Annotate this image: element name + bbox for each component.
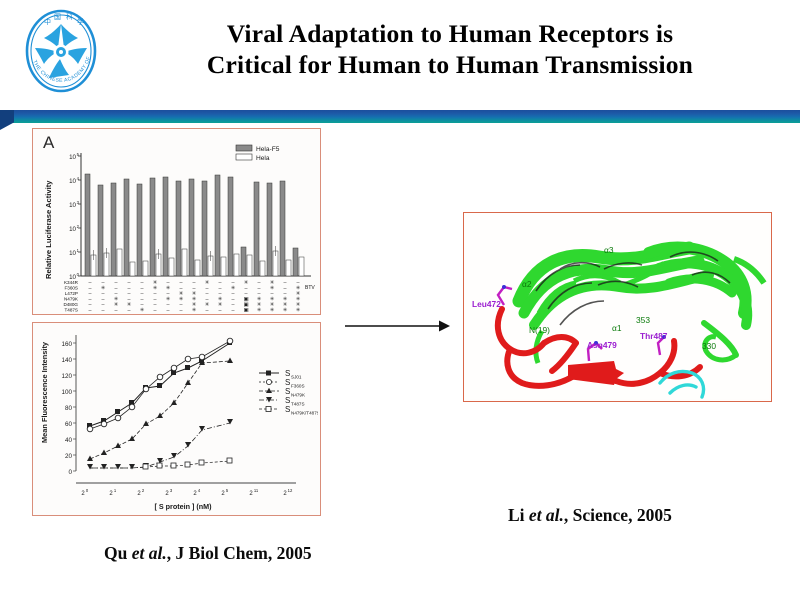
svg-text:▣: ▣ (243, 308, 248, 313)
panel-a-legend: Hela-F5 Hela (236, 145, 280, 162)
panel-a-svg: Relative Luciferase Activity 105 104 103… (33, 129, 318, 312)
citation-right: Li et al., Science, 2005 (508, 505, 672, 526)
legend-s-n479k-t487s: S (285, 405, 290, 414)
label-leu472: Leu472 (472, 299, 501, 309)
svg-text:10: 10 (69, 178, 76, 185)
svg-text:–: – (154, 308, 157, 313)
series-s-n479k-t487s-markers (143, 458, 232, 469)
svg-text:✳: ✳ (192, 308, 197, 313)
svg-text:科: 科 (66, 12, 73, 21)
svg-text:N479K: N479K (291, 393, 306, 398)
citation-left: Qu et al., J Biol Chem, 2005 (104, 543, 312, 564)
mutation-row-label-l472p: L472P (65, 291, 78, 296)
title-line-1: Viral Adaptation to Human Receptors is (227, 19, 674, 48)
legend-label-hela: Hela (256, 155, 270, 162)
panel-b-legend: S SJ01 S F360S S N479K S T487S S N479K/T… (259, 369, 318, 416)
panel-a-yticks: 105 104 103 102 101 100 (69, 152, 80, 281)
svg-text:2: 2 (193, 491, 197, 497)
svg-text:1: 1 (114, 488, 117, 493)
mutation-row-label-d480g: D480G (63, 302, 78, 307)
svg-text:N479K/T487S: N479K/T487S (291, 411, 318, 416)
svg-text:10: 10 (69, 154, 76, 161)
citation-right-rest: , Science, 2005 (564, 505, 672, 525)
label-353: 353 (636, 315, 650, 325)
svg-text:–: – (206, 308, 209, 313)
svg-text:–: – (89, 308, 92, 313)
svg-text:–: – (115, 308, 118, 313)
svg-text:20: 20 (65, 453, 73, 460)
svg-text:–: – (232, 308, 235, 313)
page-title: Viral Adaptation to Human Receptors is C… (130, 18, 770, 80)
label-thr487: Thr487 (640, 331, 668, 341)
svg-text:0: 0 (68, 469, 72, 476)
accent-divider-bar (0, 110, 800, 123)
svg-text:2: 2 (249, 491, 253, 497)
citation-left-author: Qu (104, 543, 127, 563)
svg-text:3: 3 (170, 488, 173, 493)
title-line-2: Critical for Human to Human Transmission (130, 49, 770, 80)
svg-text:10: 10 (69, 226, 76, 233)
label-alpha2: α2 (522, 279, 532, 289)
svg-text:60: 60 (65, 421, 73, 428)
legend-label-hela-f5: Hela-F5 (256, 146, 280, 153)
svg-text:2: 2 (137, 491, 141, 497)
svg-text:–: – (167, 308, 170, 313)
panel-b-xticks: 20 21 22 23 24 25 211 212 (81, 488, 293, 497)
panel-a-letter: A (43, 133, 54, 153)
svg-text:T487S: T487S (291, 402, 305, 407)
svg-text:–: – (102, 308, 105, 313)
panel-b-xlabel: [ S protein ] (nM) (154, 502, 212, 511)
panel-b-yticks: 160140120 1008060 40200 (61, 341, 72, 476)
svg-text:40: 40 (65, 437, 73, 444)
svg-text:10: 10 (69, 250, 76, 257)
svg-text:–: – (219, 308, 222, 313)
mutation-row-label-k344r: K344R (64, 280, 79, 285)
panel-a-mutation-matrix: K344R F360S L472P N479K D480G T487S ––––… (63, 280, 315, 312)
svg-text:中: 中 (44, 17, 51, 26)
legend-s-t487s: S (285, 396, 290, 405)
svg-text:SJ01: SJ01 (291, 375, 302, 380)
matrix-row-t487s: –––– ✳––– ✳––– ▣✳✳✳✳ (89, 308, 301, 313)
panel-c-svg: Leu472 Asn479 Thr487 α3 α2 α1 N(19) 353 … (464, 213, 769, 399)
mutation-row-label-t487s: T487S (64, 308, 78, 313)
legend-s-sj01: S (285, 369, 290, 378)
label-alpha1: α1 (612, 323, 622, 333)
svg-text:5: 5 (226, 488, 229, 493)
label-asn479: Asn479 (587, 340, 617, 350)
svg-text:160: 160 (61, 341, 72, 348)
svg-text:2: 2 (165, 491, 169, 497)
series-s-t487s-markers (87, 419, 233, 470)
series-s-n479k-markers (87, 358, 233, 462)
svg-text:11: 11 (254, 488, 259, 493)
svg-text:140: 140 (61, 357, 72, 364)
slide-header: 中国 科学 THE CHINESE ACADEMY OF SCIENCES Vi… (0, 0, 800, 104)
svg-text:2: 2 (109, 491, 113, 497)
legend-s-n479k: S (285, 387, 290, 396)
label-n19: N(19) (529, 325, 550, 335)
citation-left-rest: , J Biol Chem, 2005 (167, 543, 312, 563)
label-330: 330 (702, 341, 716, 351)
svg-text:✳: ✳ (257, 308, 262, 313)
panel-a-right-label: BTV (305, 285, 315, 291)
flow-arrow-icon (345, 318, 450, 334)
svg-text:120: 120 (61, 373, 72, 380)
panel-a-bars (85, 174, 304, 276)
legend-s-f360s: S (285, 378, 290, 387)
svg-text:2: 2 (81, 491, 85, 497)
svg-text:✳: ✳ (270, 308, 275, 313)
citation-right-author: Li (508, 505, 525, 525)
accent-divider-tail (0, 110, 14, 130)
svg-text:0: 0 (86, 488, 89, 493)
label-alpha3: α3 (604, 245, 614, 255)
svg-text:–: – (180, 308, 183, 313)
mutation-row-label-f360s: F360S (64, 286, 78, 291)
svg-text:F360S: F360S (291, 384, 305, 389)
svg-text:学: 学 (77, 17, 84, 26)
citation-left-etal: et al. (132, 543, 167, 563)
citation-right-etal: et al. (529, 505, 564, 525)
panel-a-bar-chart: A Relative Luciferase Activity 105 104 1… (32, 128, 321, 315)
svg-text:–: – (128, 308, 131, 313)
panel-a-ylabel: Relative Luciferase Activity (44, 180, 53, 279)
svg-text:80: 80 (65, 405, 73, 412)
mutation-row-label-n479k: N479K (64, 297, 79, 302)
svg-text:10: 10 (69, 202, 76, 209)
panel-b-svg: Mean Fluorescence Intensity 160140120 10… (33, 323, 318, 513)
panel-c-protein-structure: Leu472 Asn479 Thr487 α3 α2 α1 N(19) 353 … (463, 212, 772, 402)
svg-text:✳: ✳ (296, 308, 301, 313)
svg-text:100: 100 (61, 389, 72, 396)
panel-b-ylabel: Mean Fluorescence Intensity (40, 341, 49, 443)
svg-text:✳: ✳ (283, 308, 288, 313)
svg-text:4: 4 (198, 488, 201, 493)
svg-text:2: 2 (142, 488, 145, 493)
panel-b-line-chart: Mean Fluorescence Intensity 160140120 10… (32, 322, 321, 516)
svg-text:12: 12 (288, 488, 293, 493)
svg-text:✳: ✳ (140, 308, 145, 313)
svg-text:国: 国 (54, 13, 61, 21)
chinese-academy-of-sciences-logo: 中国 科学 THE CHINESE ACADEMY OF SCIENCES (22, 8, 100, 94)
svg-text:2: 2 (221, 491, 225, 497)
